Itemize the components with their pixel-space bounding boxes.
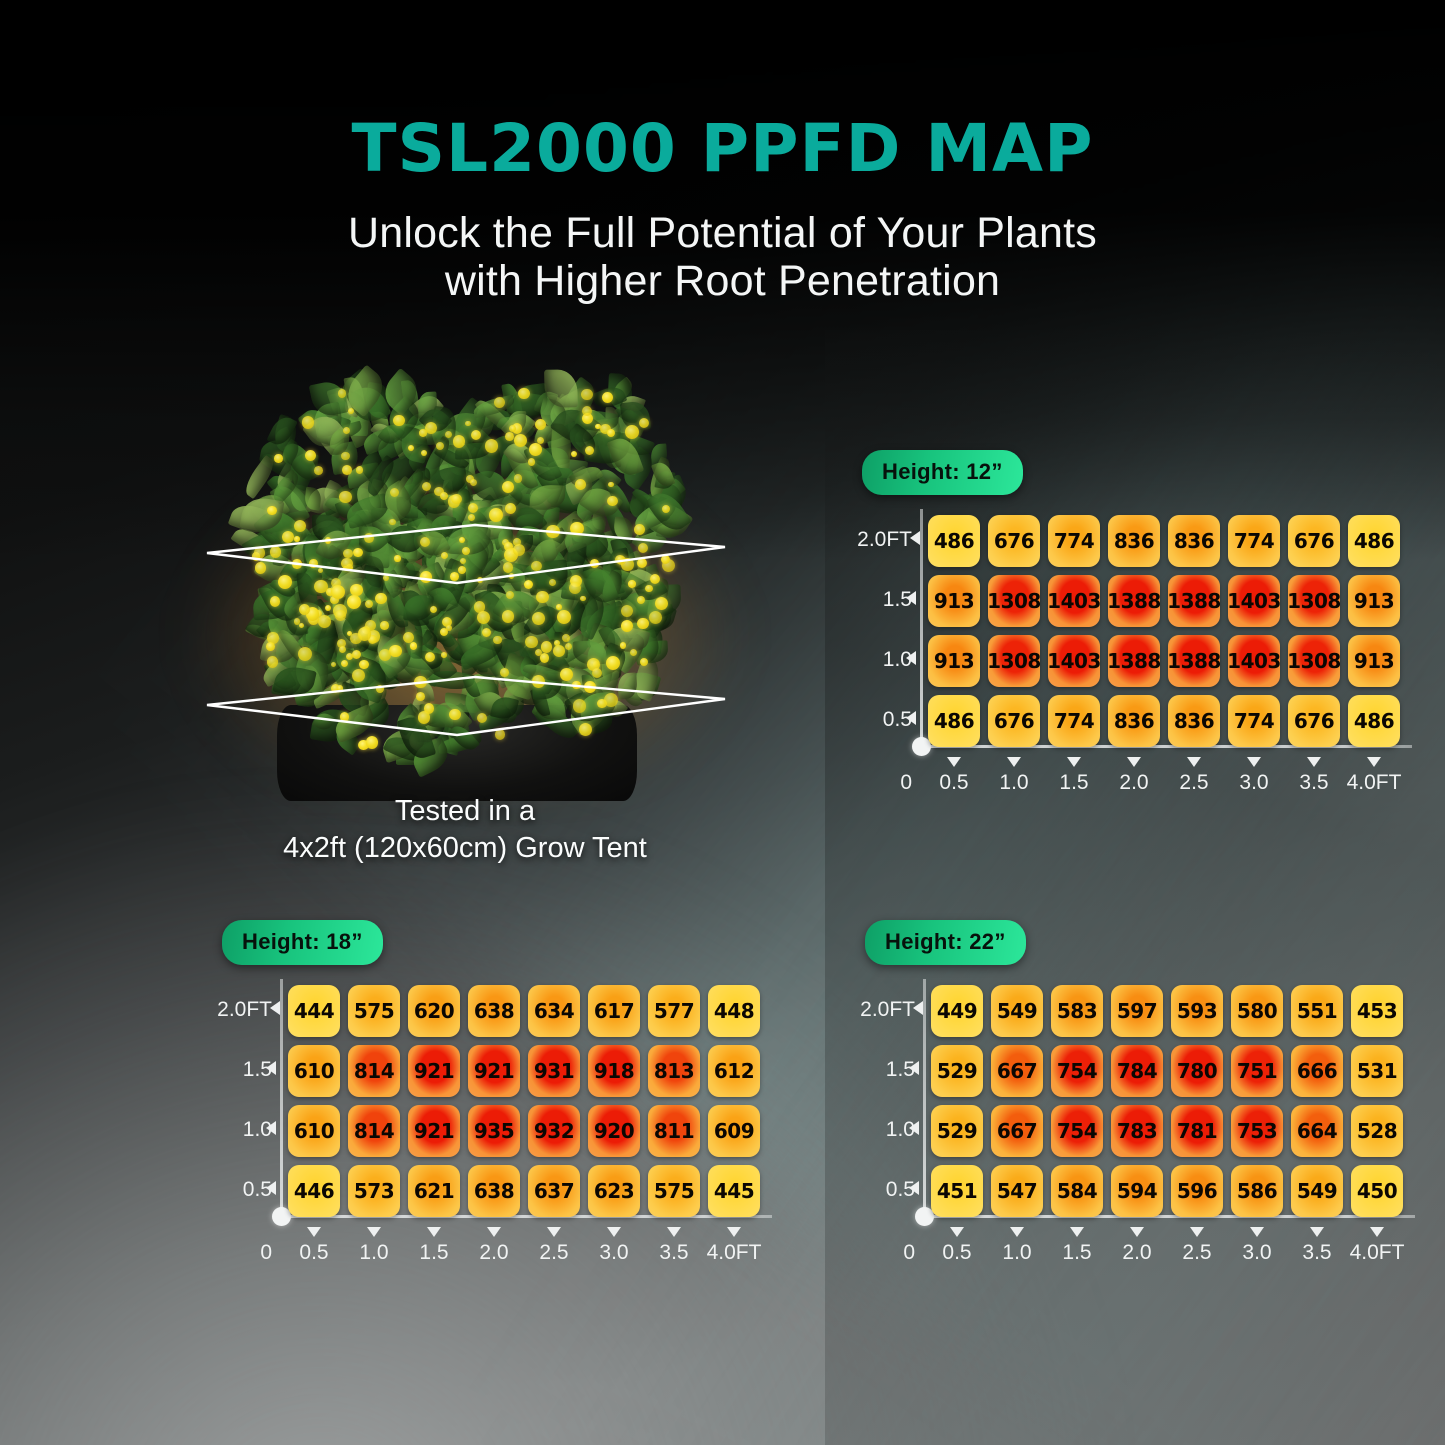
heatmap-cell: 1403 <box>1228 635 1280 687</box>
heatmap-cell: 836 <box>1168 515 1220 567</box>
x-axis-tick <box>427 1227 441 1237</box>
heatmap-cell: 528 <box>1351 1105 1403 1157</box>
y-axis-label: 1.5 <box>856 588 912 612</box>
x-axis-label: 4.0FT <box>699 1241 769 1265</box>
heatmap-cell-value: 1388 <box>1108 589 1160 613</box>
heatmap-cell-value: 446 <box>294 1179 334 1203</box>
heatmap-cell: 664 <box>1291 1105 1343 1157</box>
y-axis-label: 1.0 <box>216 1118 272 1142</box>
heatmap-cell-value: 921 <box>414 1119 454 1143</box>
heatmap-cell: 638 <box>468 1165 520 1217</box>
x-axis-tick <box>307 1227 321 1237</box>
heatmap-cell-value: 617 <box>594 999 634 1023</box>
y-axis-tick <box>906 711 916 725</box>
heatmap-cell: 666 <box>1291 1045 1343 1097</box>
y-axis-label: 1.5 <box>216 1058 272 1082</box>
heatmap-cell: 774 <box>1048 695 1100 747</box>
heatmap-cell: 920 <box>588 1105 640 1157</box>
heatmap-cell-value: 1388 <box>1168 589 1220 613</box>
heatmap-cell: 486 <box>928 515 980 567</box>
heatmap-cell: 586 <box>1231 1165 1283 1217</box>
ppfd-heatmap-22in: Height: 22” 2.0FT1.51.00.500.51.01.52.02… <box>865 920 1425 1279</box>
heatmap-cell: 621 <box>408 1165 460 1217</box>
x-axis-tick <box>367 1227 381 1237</box>
x-axis-tick <box>947 757 961 767</box>
heatmap-cell: 918 <box>588 1045 640 1097</box>
header: TSL2000 PPFD MAP Unlock the Full Potenti… <box>0 0 1445 305</box>
x-axis-tick <box>487 1227 501 1237</box>
heatmap-cell: 531 <box>1351 1045 1403 1097</box>
heatmap-cell: 486 <box>1348 695 1400 747</box>
heatmap-cell-value: 913 <box>1354 649 1394 673</box>
heatmap-cell: 445 <box>708 1165 760 1217</box>
heatmap-cell-value: 486 <box>934 709 974 733</box>
heatmap-cell-value: 913 <box>934 589 974 613</box>
heatmap-cell: 593 <box>1171 985 1223 1037</box>
heatmap-cell-value: 774 <box>1234 709 1274 733</box>
heatmap-cell-value: 547 <box>997 1179 1037 1203</box>
y-axis-label: 2.0FT <box>856 528 912 552</box>
heatmap-cell-value: 586 <box>1237 1179 1277 1203</box>
x-axis-tick <box>1187 757 1201 767</box>
heatmap-cell-value: 774 <box>1054 529 1094 553</box>
y-axis-tick <box>913 1001 923 1015</box>
ppfd-heatmap-18in: Height: 18” 2.0FT1.51.00.500.51.01.52.02… <box>222 920 782 1279</box>
subtitle-line-1: Unlock the Full Potential of Your Plants <box>0 209 1445 257</box>
heatmap-cell-value: 575 <box>654 1179 694 1203</box>
heatmap-cell-value: 638 <box>474 1179 514 1203</box>
x-axis-tick <box>1247 757 1261 767</box>
heatmap-cell: 620 <box>408 985 460 1037</box>
heatmap-cell: 753 <box>1231 1105 1283 1157</box>
heatmap-cell-value: 486 <box>934 529 974 553</box>
heatmap-cell-value: 1388 <box>1108 649 1160 673</box>
grow-tent-plant-photo: Tested in a 4x2ft (120x60cm) Grow Tent <box>185 375 745 805</box>
heatmap-cell: 448 <box>708 985 760 1037</box>
heatmap-cell: 935 <box>468 1105 520 1157</box>
x-axis-tick <box>727 1227 741 1237</box>
heatmap-cell-value: 836 <box>1174 709 1214 733</box>
heatmap-cell: 780 <box>1171 1045 1223 1097</box>
heatmap-cell-value: 913 <box>934 649 974 673</box>
heatmap-cell-value: 676 <box>994 529 1034 553</box>
heatmap-cell: 577 <box>648 985 700 1037</box>
heatmap-cell: 774 <box>1048 515 1100 567</box>
heatmap-cell-value: 921 <box>474 1059 514 1083</box>
heatmap-cell: 813 <box>648 1045 700 1097</box>
heatmap-cell-value: 836 <box>1174 529 1214 553</box>
heatmap-cell-value: 621 <box>414 1179 454 1203</box>
heatmap-cell-value: 913 <box>1354 589 1394 613</box>
heatmap-cell: 486 <box>928 695 980 747</box>
x-axis-tick <box>1127 757 1141 767</box>
heatmap-cell-value: 836 <box>1114 529 1154 553</box>
heatmap-cell-value: 932 <box>534 1119 574 1143</box>
heatmap-cell: 638 <box>468 985 520 1037</box>
heatmap-plot-22in: 2.0FT1.51.00.500.51.01.52.02.53.03.54.0F… <box>865 979 1425 1279</box>
heatmap-cell: 529 <box>931 1045 983 1097</box>
y-axis-tick <box>270 1001 280 1015</box>
heatmap-cell-value: 623 <box>594 1179 634 1203</box>
photo-caption: Tested in a 4x2ft (120x60cm) Grow Tent <box>185 793 745 867</box>
heatmap-cell-value: 676 <box>1294 709 1334 733</box>
heatmap-cell-value: 1388 <box>1168 649 1220 673</box>
heatmap-cell-value: 751 <box>1237 1059 1277 1083</box>
heatmap-cell: 547 <box>991 1165 1043 1217</box>
heatmap-cell-value: 449 <box>937 999 977 1023</box>
y-axis-line <box>923 979 926 1215</box>
heatmap-cell-value: 754 <box>1057 1119 1097 1143</box>
heatmap-cell: 836 <box>1168 695 1220 747</box>
heatmap-cell-value: 596 <box>1177 1179 1217 1203</box>
y-axis-label: 1.0 <box>856 648 912 672</box>
heatmap-cell-value: 638 <box>474 999 514 1023</box>
heatmap-cell-value: 754 <box>1057 1059 1097 1083</box>
heatmap-cell-value: 1308 <box>988 649 1040 673</box>
heatmap-cell: 449 <box>931 985 983 1037</box>
heatmap-cell: 446 <box>288 1165 340 1217</box>
heatmap-cell-value: 451 <box>937 1179 977 1203</box>
heatmap-cell: 774 <box>1228 515 1280 567</box>
heatmap-cell: 453 <box>1351 985 1403 1037</box>
heatmap-cell-value: 676 <box>1294 529 1334 553</box>
heatmap-cell-value: 781 <box>1177 1119 1217 1143</box>
heatmap-cell-value: 528 <box>1357 1119 1397 1143</box>
heatmap-cell-value: 634 <box>534 999 574 1023</box>
heatmap-cell: 609 <box>708 1105 760 1157</box>
heatmap-cell: 610 <box>288 1105 340 1157</box>
heatmap-cell: 575 <box>348 985 400 1037</box>
x-axis-tick <box>1010 1227 1024 1237</box>
height-badge-12in: Height: 12” <box>862 450 1023 495</box>
heatmap-cell: 1388 <box>1168 575 1220 627</box>
heatmap-cell-value: 813 <box>654 1059 694 1083</box>
heatmap-cell: 676 <box>1288 695 1340 747</box>
heatmap-cell-value: 780 <box>1177 1059 1217 1083</box>
x-axis-tick <box>607 1227 621 1237</box>
subtitle-line-2: with Higher Root Penetration <box>0 257 1445 305</box>
heatmap-cell: 596 <box>1171 1165 1223 1217</box>
y-axis-label-zero: 0 <box>216 1241 272 1265</box>
heatmap-cell-value: 784 <box>1117 1059 1157 1083</box>
heatmap-cell-value: 597 <box>1117 999 1157 1023</box>
heatmap-cell: 836 <box>1108 515 1160 567</box>
heatmap-cell: 450 <box>1351 1165 1403 1217</box>
heatmap-cell: 584 <box>1051 1165 1103 1217</box>
x-axis-tick <box>1130 1227 1144 1237</box>
heatmap-cell-value: 666 <box>1297 1059 1337 1083</box>
x-axis-tick <box>1007 757 1021 767</box>
heatmap-cell: 836 <box>1108 695 1160 747</box>
heatmap-cell: 676 <box>988 695 1040 747</box>
heatmap-grid: 4866767748368367746764869131308140313881… <box>928 515 1400 747</box>
heatmap-cell: 913 <box>928 575 980 627</box>
heatmap-cell-value: 609 <box>714 1119 754 1143</box>
heatmap-cell: 774 <box>1228 695 1280 747</box>
heatmap-cell-value: 612 <box>714 1059 754 1083</box>
y-axis-tick <box>906 591 916 605</box>
heatmap-cell-value: 1308 <box>1288 649 1340 673</box>
heatmap-cell-value: 1403 <box>1048 589 1100 613</box>
heatmap-cell-value: 1403 <box>1048 649 1100 673</box>
heatmap-cell: 667 <box>991 1105 1043 1157</box>
heatmap-cell: 594 <box>1111 1165 1163 1217</box>
heatmap-cell-value: 1403 <box>1228 589 1280 613</box>
y-axis-line <box>280 979 283 1215</box>
heatmap-grid: 4445756206386346175774486108149219219319… <box>288 985 760 1217</box>
heatmap-cell-value: 676 <box>994 709 1034 733</box>
heatmap-cell: 1388 <box>1108 635 1160 687</box>
heatmap-cell: 1388 <box>1108 575 1160 627</box>
caption-line-2: 4x2ft (120x60cm) Grow Tent <box>185 830 745 867</box>
heatmap-cell: 612 <box>708 1045 760 1097</box>
x-axis-tick <box>1190 1227 1204 1237</box>
infographic-canvas: TSL2000 PPFD MAP Unlock the Full Potenti… <box>0 0 1445 1445</box>
x-axis-tick <box>1250 1227 1264 1237</box>
heatmap-cell: 549 <box>991 985 1043 1037</box>
heatmap-cell-value: 583 <box>1057 999 1097 1023</box>
heatmap-cell: 529 <box>931 1105 983 1157</box>
x-axis-label: 4.0FT <box>1342 1241 1412 1265</box>
height-badge-18in: Height: 18” <box>222 920 383 965</box>
heatmap-cell-value: 551 <box>1297 999 1337 1023</box>
heatmap-cell: 1403 <box>1048 575 1100 627</box>
y-axis-label: 1.5 <box>859 1058 915 1082</box>
heatmap-cell: 754 <box>1051 1105 1103 1157</box>
heatmap-cell: 784 <box>1111 1045 1163 1097</box>
x-axis-tick <box>1070 1227 1084 1237</box>
y-axis-label-zero: 0 <box>856 771 912 795</box>
y-axis-tick <box>266 1061 276 1075</box>
heatmap-cell: 549 <box>1291 1165 1343 1217</box>
heatmap-cell-value: 573 <box>354 1179 394 1203</box>
heatmap-plot-18in: 2.0FT1.51.00.500.51.01.52.02.53.03.54.0F… <box>222 979 782 1279</box>
heatmap-cell-value: 664 <box>1297 1119 1337 1143</box>
y-axis-tick <box>906 651 916 665</box>
x-axis-tick <box>1310 1227 1324 1237</box>
heatmap-cell-value: 448 <box>714 999 754 1023</box>
heatmap-cell: 617 <box>588 985 640 1037</box>
heatmap-cell: 921 <box>408 1105 460 1157</box>
heatmap-cell: 921 <box>468 1045 520 1097</box>
heatmap-cell: 444 <box>288 985 340 1037</box>
heatmap-cell-value: 935 <box>474 1119 514 1143</box>
heatmap-cell-value: 549 <box>997 999 1037 1023</box>
y-axis-label: 2.0FT <box>216 998 272 1022</box>
heatmap-cell: 637 <box>528 1165 580 1217</box>
heatmap-cell-value: 486 <box>1354 709 1394 733</box>
heatmap-cell: 751 <box>1231 1045 1283 1097</box>
x-axis-tick <box>667 1227 681 1237</box>
heatmap-cell-value: 450 <box>1357 1179 1397 1203</box>
heatmap-cell: 573 <box>348 1165 400 1217</box>
heatmap-cell: 486 <box>1348 515 1400 567</box>
heatmap-cell: 814 <box>348 1105 400 1157</box>
x-axis-tick <box>1307 757 1321 767</box>
heatmap-cell: 676 <box>1288 515 1340 567</box>
measurement-planes <box>185 375 745 805</box>
heatmap-cell: 1388 <box>1168 635 1220 687</box>
heatmap-cell-value: 531 <box>1357 1059 1397 1083</box>
heatmap-cell-value: 814 <box>354 1059 394 1083</box>
heatmap-cell-value: 836 <box>1114 709 1154 733</box>
x-axis-tick <box>547 1227 561 1237</box>
heatmap-cell-value: 667 <box>997 1119 1037 1143</box>
heatmap-cell-value: 667 <box>997 1059 1037 1083</box>
heatmap-cell-value: 593 <box>1177 999 1217 1023</box>
heatmap-cell-value: 811 <box>654 1119 694 1143</box>
heatmap-cell-value: 814 <box>354 1119 394 1143</box>
heatmap-cell: 783 <box>1111 1105 1163 1157</box>
heatmap-cell-value: 1308 <box>1288 589 1340 613</box>
heatmap-cell-value: 783 <box>1117 1119 1157 1143</box>
heatmap-cell-value: 584 <box>1057 1179 1097 1203</box>
heatmap-cell-value: 529 <box>937 1059 977 1083</box>
y-axis-label-zero: 0 <box>859 1241 915 1265</box>
heatmap-cell: 931 <box>528 1045 580 1097</box>
heatmap-cell-value: 620 <box>414 999 454 1023</box>
heatmap-cell: 913 <box>928 635 980 687</box>
heatmap-cell: 583 <box>1051 985 1103 1037</box>
heatmap-grid: 4495495835975935805514535296677547847807… <box>931 985 1403 1217</box>
heatmap-cell-value: 453 <box>1357 999 1397 1023</box>
y-axis-tick <box>909 1061 919 1075</box>
y-axis-tick <box>909 1121 919 1135</box>
heatmap-cell: 676 <box>988 515 1040 567</box>
ppfd-heatmap-12in: Height: 12” 2.0FT1.51.00.500.51.01.52.02… <box>862 450 1422 809</box>
heatmap-cell: 814 <box>348 1045 400 1097</box>
page-title: TSL2000 PPFD MAP <box>0 110 1445 187</box>
x-axis-tick <box>1067 757 1081 767</box>
heatmap-cell: 575 <box>648 1165 700 1217</box>
heatmap-cell: 781 <box>1171 1105 1223 1157</box>
heatmap-cell: 623 <box>588 1165 640 1217</box>
heatmap-cell-value: 529 <box>937 1119 977 1143</box>
heatmap-cell-value: 931 <box>534 1059 574 1083</box>
y-axis-line <box>920 509 923 745</box>
heatmap-cell-value: 610 <box>294 1119 334 1143</box>
heatmap-cell: 580 <box>1231 985 1283 1037</box>
heatmap-cell: 913 <box>1348 635 1400 687</box>
y-axis-label: 0.5 <box>859 1178 915 1202</box>
heatmap-cell-value: 918 <box>594 1059 634 1083</box>
heatmap-cell-value: 753 <box>1237 1119 1277 1143</box>
heatmap-cell-value: 1403 <box>1228 649 1280 673</box>
heatmap-cell-value: 580 <box>1237 999 1277 1023</box>
heatmap-cell: 811 <box>648 1105 700 1157</box>
heatmap-cell: 667 <box>991 1045 1043 1097</box>
heatmap-cell-value: 637 <box>534 1179 574 1203</box>
y-axis-tick <box>266 1181 276 1195</box>
heatmap-cell-value: 921 <box>414 1059 454 1083</box>
heatmap-cell: 551 <box>1291 985 1343 1037</box>
heatmap-plot-12in: 2.0FT1.51.00.500.51.01.52.02.53.03.54.0F… <box>862 509 1422 809</box>
heatmap-cell-value: 577 <box>654 999 694 1023</box>
height-badge-22in: Height: 22” <box>865 920 1026 965</box>
heatmap-cell: 1308 <box>988 635 1040 687</box>
y-axis-label: 1.0 <box>859 1118 915 1142</box>
heatmap-cell: 913 <box>1348 575 1400 627</box>
heatmap-cell: 1403 <box>1228 575 1280 627</box>
page-subtitle: Unlock the Full Potential of Your Plants… <box>0 209 1445 305</box>
x-axis-tick <box>1367 757 1381 767</box>
y-axis-tick <box>266 1121 276 1135</box>
x-axis-tick <box>1370 1227 1384 1237</box>
heatmap-cell: 754 <box>1051 1045 1103 1097</box>
heatmap-cell-value: 575 <box>354 999 394 1023</box>
heatmap-cell: 451 <box>931 1165 983 1217</box>
x-axis-label: 4.0FT <box>1339 771 1409 795</box>
y-axis-label: 2.0FT <box>859 998 915 1022</box>
y-axis-label: 0.5 <box>216 1178 272 1202</box>
heatmap-cell: 1308 <box>1288 635 1340 687</box>
heatmap-cell: 1308 <box>1288 575 1340 627</box>
y-axis-label: 0.5 <box>856 708 912 732</box>
heatmap-cell-value: 610 <box>294 1059 334 1083</box>
heatmap-cell-value: 594 <box>1117 1179 1157 1203</box>
heatmap-cell-value: 445 <box>714 1179 754 1203</box>
x-axis-tick <box>950 1227 964 1237</box>
heatmap-cell-value: 774 <box>1054 709 1094 733</box>
heatmap-cell: 1308 <box>988 575 1040 627</box>
heatmap-cell: 1403 <box>1048 635 1100 687</box>
y-axis-tick <box>910 531 920 545</box>
heatmap-cell-value: 920 <box>594 1119 634 1143</box>
y-axis-tick <box>909 1181 919 1195</box>
heatmap-cell-value: 444 <box>294 999 334 1023</box>
heatmap-cell-value: 549 <box>1297 1179 1337 1203</box>
heatmap-cell: 610 <box>288 1045 340 1097</box>
heatmap-cell-value: 486 <box>1354 529 1394 553</box>
heatmap-cell: 921 <box>408 1045 460 1097</box>
caption-line-1: Tested in a <box>185 793 745 830</box>
heatmap-cell: 634 <box>528 985 580 1037</box>
heatmap-cell-value: 1308 <box>988 589 1040 613</box>
heatmap-cell-value: 774 <box>1234 529 1274 553</box>
heatmap-cell: 932 <box>528 1105 580 1157</box>
heatmap-cell: 597 <box>1111 985 1163 1037</box>
